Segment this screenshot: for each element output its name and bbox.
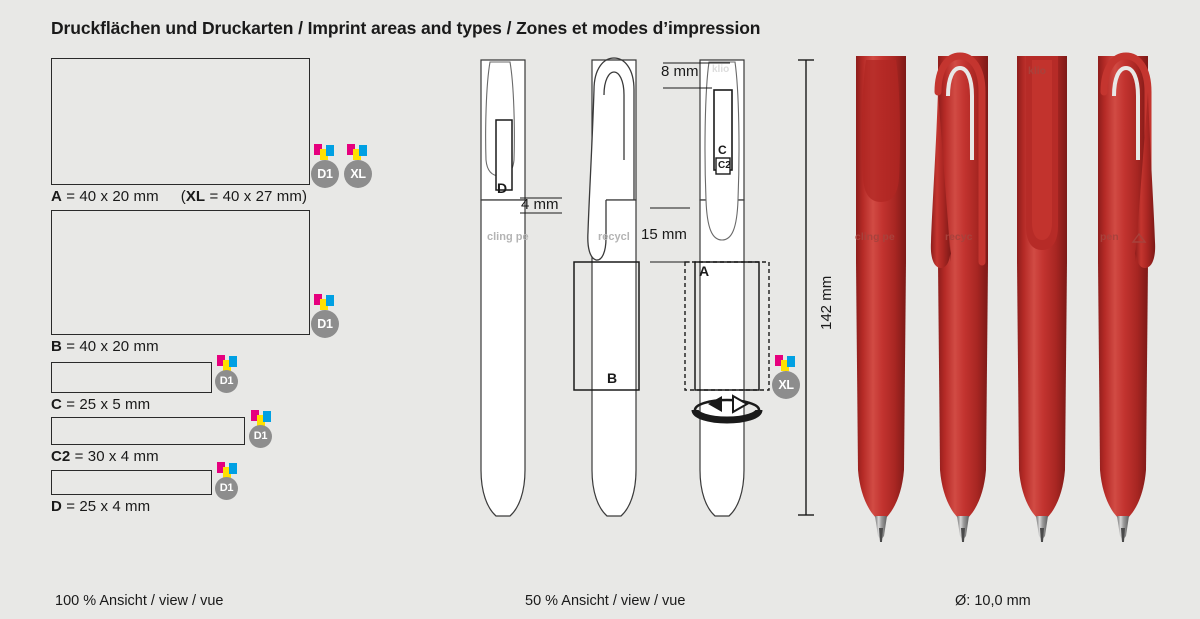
product-pen-1: cling pe [855,56,906,542]
caption-right: Ø: 10,0 mm [955,593,1031,609]
zone-marker-a: A [699,263,709,279]
embossed-text-pen3: klio [712,64,729,75]
spec-sheet: Druckflächen und Druckarten / Imprint ar… [0,0,1200,619]
embossed-text-pen1: cling pe [487,231,529,243]
print-method-badge-xl-zone-a[interactable]: XL [772,355,806,399]
embossed-cap-text: klio [1028,65,1046,77]
technical-line-drawing: cling pe recycl klio [0,0,1200,619]
zone-marker-c: C [718,143,727,157]
zone-marker-b: B [607,370,617,386]
zone-marker-c2: C2 [718,160,731,171]
badge-label: XL [772,371,800,399]
dimension-label-8mm: 8 mm [661,63,699,80]
embossed-text-pen2: recycl [598,231,630,243]
zone-marker-d: D [497,180,507,196]
dimension-label-4mm: 4 mm [521,196,559,213]
caption-left: 100 % Ansicht / view / vue [55,593,223,609]
dimension-label-142mm: 142 mm [818,276,835,330]
embossed-text: pen [1100,231,1119,243]
ink-drop-cyan-icon [787,356,795,367]
caption-center: 50 % Ansicht / view / vue [525,593,685,609]
product-pen-4: pen [1098,56,1155,542]
product-pen-2: recyc [931,56,988,542]
embossed-text: cling pe [855,231,895,243]
dimension-label-15mm: 15 mm [641,226,687,243]
product-pen-3: klio [1017,56,1067,542]
embossed-text: recyc [945,231,973,243]
